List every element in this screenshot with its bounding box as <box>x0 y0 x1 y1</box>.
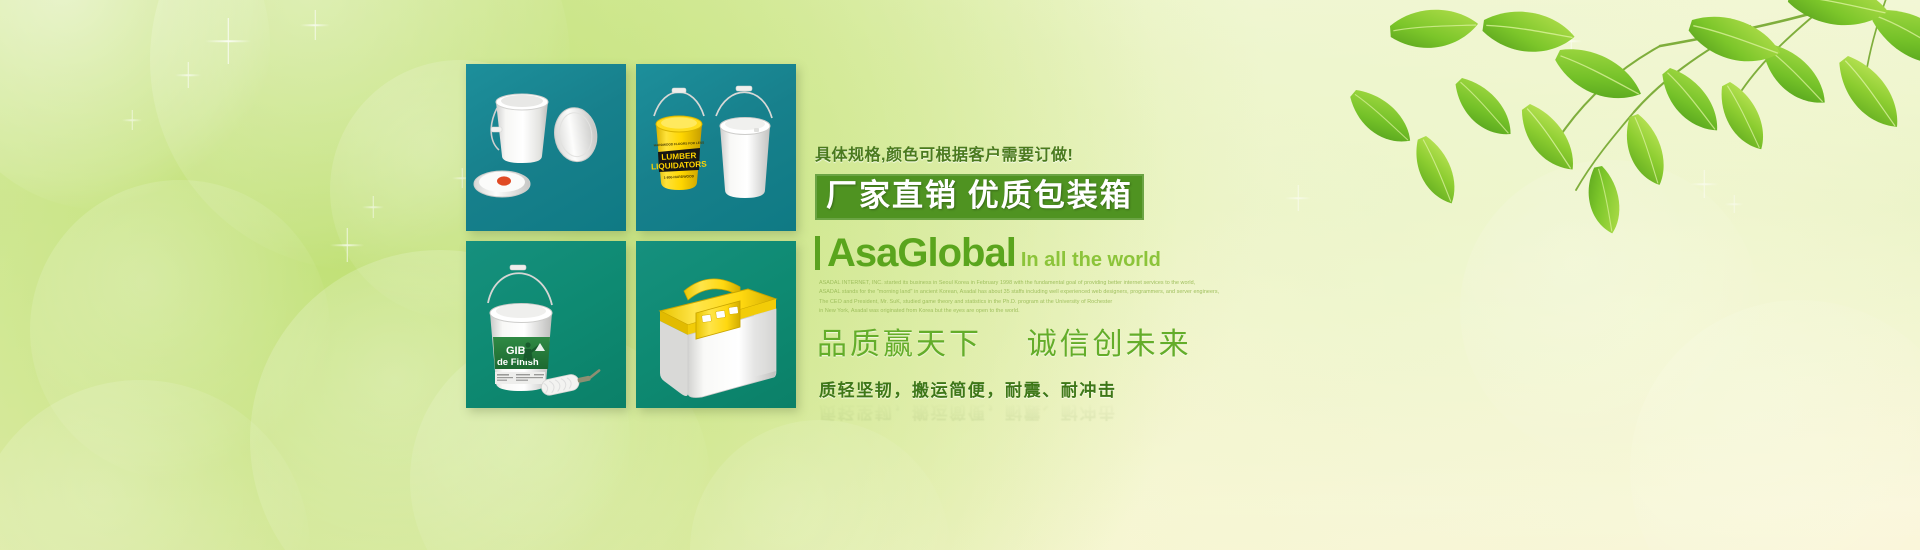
features-group: 质轻坚韧，搬运简便，耐震、耐冲击 质轻坚韧，搬运简便，耐震、耐冲击 <box>819 381 1455 401</box>
svg-text:de Finish: de Finish <box>497 357 539 368</box>
marketing-copy-block: 具体规格,颜色可根据客户需要订做! 厂家直销 优质包装箱 AsaGlobal I… <box>815 146 1455 401</box>
svg-text:GIB: GIB <box>506 345 526 357</box>
product-photo-grid: LUMBER LIQUIDATORS HARDWOOD FLOORS FOR L… <box>466 64 796 414</box>
headline-banner: 厂家直销 优质包装箱 <box>815 174 1144 219</box>
promo-banner: LUMBER LIQUIDATORS HARDWOOD FLOORS FOR L… <box>0 0 1920 550</box>
product-features: 质轻坚韧，搬运简便，耐震、耐冲击 <box>819 381 1455 401</box>
headline-text: 厂家直销 优质包装箱 <box>826 179 1133 212</box>
subtitle-line: 具体规格,颜色可根据客户需要订做! <box>815 146 1455 165</box>
photo-white-toolbox-yellow-lid <box>636 241 796 408</box>
fineprint-line: in New York, Asadal was originated from … <box>819 307 1249 317</box>
slogan-part-left: 品质赢天下 <box>817 328 982 361</box>
brand-accent-bar <box>815 236 820 270</box>
photo-yellow-and-white-pails: LUMBER LIQUIDATORS HARDWOOD FLOORS FOR L… <box>636 64 796 231</box>
fineprint-line: ASADAL stands for the "morning land" in … <box>819 288 1249 298</box>
photo-white-pail-with-lids <box>466 64 626 231</box>
slogan-part-right: 诚信创未来 <box>1027 328 1192 361</box>
fineprint-line: ASADAL INTERNET, INC. started its busine… <box>819 279 1249 289</box>
brand-name: AsaGlobal <box>827 234 1016 272</box>
brand-tagline: In all the world <box>1021 249 1161 272</box>
company-fineprint: ASADAL INTERNET, INC. started its busine… <box>819 279 1249 317</box>
brand-lockup: AsaGlobal In all the world <box>815 234 1455 272</box>
photo-gib-pail-with-roller: GIB de Finish <box>466 241 626 408</box>
fineprint-line: The CEO and President, Mr. SuK, studied … <box>819 298 1249 308</box>
company-slogan: 品质赢天下 诚信创未来 <box>817 328 1455 363</box>
